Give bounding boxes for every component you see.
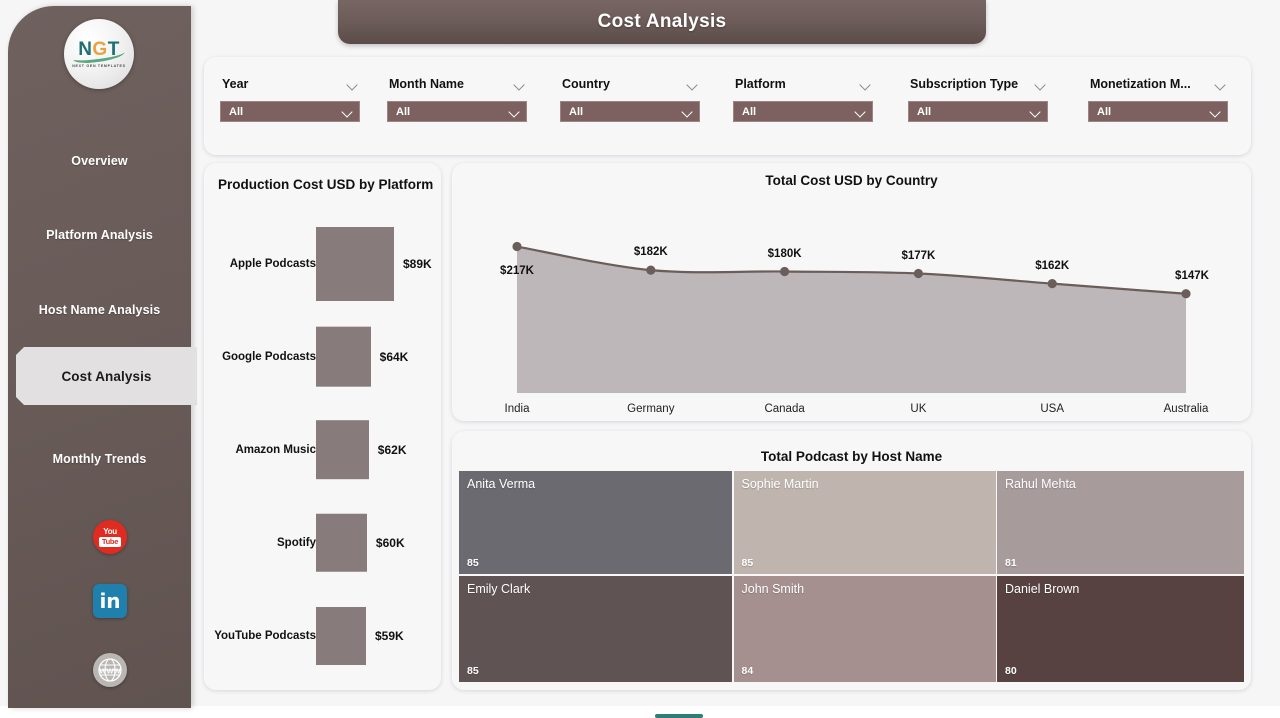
treemap-tile-value: 85 <box>467 665 479 677</box>
slicer-value: All <box>742 106 756 118</box>
www-icon[interactable]: WWW <box>92 652 128 688</box>
slicer-value: All <box>229 106 243 118</box>
page-bottom-strip <box>0 706 1280 718</box>
area-value-label: $147K <box>1175 270 1209 282</box>
slicer-header-subscription-type[interactable]: Subscription Type <box>908 75 1048 93</box>
bar-rect[interactable] <box>316 607 366 665</box>
production-cost-bar-chart: Production Cost USD by Platform Apple Po… <box>204 163 441 690</box>
bar-row[interactable]: YouTube Podcasts$59K <box>204 589 441 682</box>
bar-rect[interactable] <box>316 513 367 572</box>
treemap-tile[interactable]: John Smith84 <box>734 576 996 682</box>
slicer-dropdown-country[interactable]: All <box>560 101 700 122</box>
treemap-tile-value: 80 <box>1005 665 1017 677</box>
chevron-down-icon[interactable] <box>509 108 520 115</box>
sidebar-item-label: Overview <box>71 154 127 168</box>
treemap-tile-value: 84 <box>742 665 754 677</box>
chevron-down-icon[interactable] <box>1030 108 1041 115</box>
bar-row[interactable]: Google Podcasts$64K <box>204 310 441 403</box>
slicer-label: Monetization M... <box>1090 77 1191 91</box>
slicer-header-platform[interactable]: Platform <box>733 75 873 93</box>
slicer-month-name: Month NameAll <box>387 75 527 122</box>
sidebar-item-host-name-analysis[interactable]: Host Name Analysis <box>8 293 191 327</box>
bar-rect[interactable] <box>316 420 369 480</box>
bar-category-label: Apple Podcasts <box>230 258 316 270</box>
chevron-down-icon[interactable] <box>1210 108 1221 115</box>
sidebar-item-label: Platform Analysis <box>46 228 153 242</box>
slicer-dropdown-month-name[interactable]: All <box>387 101 527 122</box>
slicer-label: Year <box>222 77 248 91</box>
slicer-label: Platform <box>735 77 786 91</box>
treemap-tile[interactable]: Rahul Mehta81 <box>997 471 1244 574</box>
sidebar: NGT NEXT GEN TEMPLATES OverviewPlatform … <box>8 6 191 708</box>
treemap-tile[interactable]: Emily Clark85 <box>459 576 732 682</box>
area-value-label: $180K <box>768 248 802 260</box>
data-point-marker[interactable] <box>646 266 655 275</box>
slicer-header-country[interactable]: Country <box>560 75 700 93</box>
area-category-label: Australia <box>1164 403 1209 415</box>
bar-chart-title: Production Cost USD by Platform <box>218 177 433 192</box>
treemap-tile[interactable]: Anita Verma85 <box>459 471 732 574</box>
area-value-label: $182K <box>634 246 668 258</box>
bar-rect[interactable] <box>316 227 394 301</box>
slicer-value: All <box>396 106 410 118</box>
treemap-tile-label: Emily Clark <box>467 582 530 596</box>
treemap-tile-label: Daniel Brown <box>1005 582 1079 596</box>
slicer-header-year[interactable]: Year <box>220 75 360 93</box>
slicer-label: Month Name <box>389 77 464 91</box>
sidebar-item-overview[interactable]: Overview <box>8 144 191 178</box>
treemap-tile-value: 85 <box>467 557 479 569</box>
linkedin-icon[interactable]: in <box>92 583 128 619</box>
area-chart-plot <box>452 193 1251 421</box>
chevron-down-icon[interactable] <box>1035 81 1046 88</box>
sidebar-item-cost-analysis[interactable]: Cost Analysis <box>16 347 197 405</box>
area-chart-title: Total Cost USD by Country <box>452 173 1251 188</box>
bar-value-label: $62K <box>378 443 407 457</box>
chevron-down-icon[interactable] <box>860 81 871 88</box>
chevron-down-icon[interactable] <box>687 81 698 88</box>
slicer-platform: PlatformAll <box>733 75 873 122</box>
treemap-tile-label: John Smith <box>742 582 805 596</box>
bar-rect[interactable] <box>316 326 371 387</box>
slicer-subscription-type: Subscription TypeAll <box>908 75 1048 122</box>
data-point-marker[interactable] <box>1048 279 1057 288</box>
treemap-tile-value: 81 <box>1005 557 1017 569</box>
dashboard-root: NGT NEXT GEN TEMPLATES OverviewPlatform … <box>0 0 1280 718</box>
slicer-monetization-m: Monetization M...All <box>1088 75 1228 122</box>
area-fill <box>517 247 1186 393</box>
chevron-down-icon[interactable] <box>347 81 358 88</box>
podcast-host-treemap: Total Podcast by Host Name Anita Verma85… <box>452 431 1251 690</box>
bar-category-label: Google Podcasts <box>222 351 316 363</box>
area-value-label: $217K <box>500 265 534 277</box>
bar-value-label: $89K <box>403 257 432 271</box>
slicer-value: All <box>569 106 583 118</box>
treemap-title: Total Podcast by Host Name <box>452 449 1251 464</box>
slicer-year: YearAll <box>220 75 360 122</box>
area-category-label: Germany <box>627 403 674 415</box>
chevron-down-icon[interactable] <box>514 81 525 88</box>
data-point-marker[interactable] <box>780 267 789 276</box>
bar-value-label: $59K <box>375 629 404 643</box>
bar-row[interactable]: Apple Podcasts$89K <box>204 217 441 310</box>
data-point-marker[interactable] <box>914 269 923 278</box>
treemap-tile-label: Sophie Martin <box>742 477 819 491</box>
slicer-dropdown-monetization-m[interactable]: All <box>1088 101 1228 122</box>
slicer-dropdown-subscription-type[interactable]: All <box>908 101 1048 122</box>
treemap-tile[interactable]: Daniel Brown80 <box>997 576 1244 682</box>
data-point-marker[interactable] <box>512 242 521 251</box>
chevron-down-icon[interactable] <box>1215 81 1226 88</box>
bar-value-label: $64K <box>380 350 409 364</box>
slicer-value: All <box>917 106 931 118</box>
sidebar-item-label: Cost Analysis <box>61 369 151 384</box>
area-category-label: UK <box>910 403 926 415</box>
bar-category-label: Amazon Music <box>235 444 316 456</box>
treemap-tile-label: Rahul Mehta <box>1005 477 1076 491</box>
chevron-down-icon[interactable] <box>855 108 866 115</box>
data-point-marker[interactable] <box>1181 289 1190 298</box>
brand-logo: NGT NEXT GEN TEMPLATES <box>64 19 134 89</box>
treemap-tiles: Anita Verma85Sophie Martin85Rahul Mehta8… <box>459 471 1244 682</box>
sidebar-item-label: Host Name Analysis <box>39 303 161 317</box>
area-category-label: USA <box>1040 403 1064 415</box>
slicer-label: Country <box>562 77 610 91</box>
sidebar-item-platform-analysis[interactable]: Platform Analysis <box>8 218 191 252</box>
bar-category-label: Spotify <box>277 537 316 549</box>
youtube-icon[interactable]: YouTube <box>92 519 128 555</box>
chevron-down-icon[interactable] <box>682 108 693 115</box>
logo-tagline: NEXT GEN TEMPLATES <box>72 64 125 68</box>
treemap-tile[interactable]: Sophie Martin85 <box>734 471 996 574</box>
bar-row[interactable]: Spotify$60K <box>204 496 441 589</box>
page-title-banner: Cost Analysis <box>338 0 986 44</box>
area-value-label: $177K <box>901 250 935 262</box>
filter-bar: YearAllMonth NameAllCountryAllPlatformAl… <box>204 57 1251 155</box>
bar-row[interactable]: Amazon Music$62K <box>204 403 441 496</box>
bar-value-label: $60K <box>376 536 405 550</box>
slicer-dropdown-platform[interactable]: All <box>733 101 873 122</box>
slicer-value: All <box>1097 106 1111 118</box>
slicer-country: CountryAll <box>560 75 700 122</box>
slicer-header-month-name[interactable]: Month Name <box>387 75 527 93</box>
treemap-tile-value: 85 <box>742 557 754 569</box>
total-cost-area-chart: Total Cost USD by Country $217KIndia$182… <box>452 163 1251 421</box>
chevron-down-icon[interactable] <box>342 108 353 115</box>
slicer-dropdown-year[interactable]: All <box>220 101 360 122</box>
treemap-tile-label: Anita Verma <box>467 477 535 491</box>
sidebar-item-label: Monthly Trends <box>53 452 147 466</box>
slicer-label: Subscription Type <box>910 77 1018 91</box>
page-tab-indicator <box>655 714 703 718</box>
slicer-header-monetization-m[interactable]: Monetization M... <box>1088 75 1228 93</box>
area-value-label: $162K <box>1035 260 1069 272</box>
page-title: Cost Analysis <box>598 11 727 33</box>
area-category-label: India <box>505 403 530 415</box>
bar-category-label: YouTube Podcasts <box>214 630 316 642</box>
area-category-label: Canada <box>764 403 804 415</box>
sidebar-item-monthly-trends[interactable]: Monthly Trends <box>8 442 191 476</box>
svg-text:WWW: WWW <box>99 666 121 675</box>
